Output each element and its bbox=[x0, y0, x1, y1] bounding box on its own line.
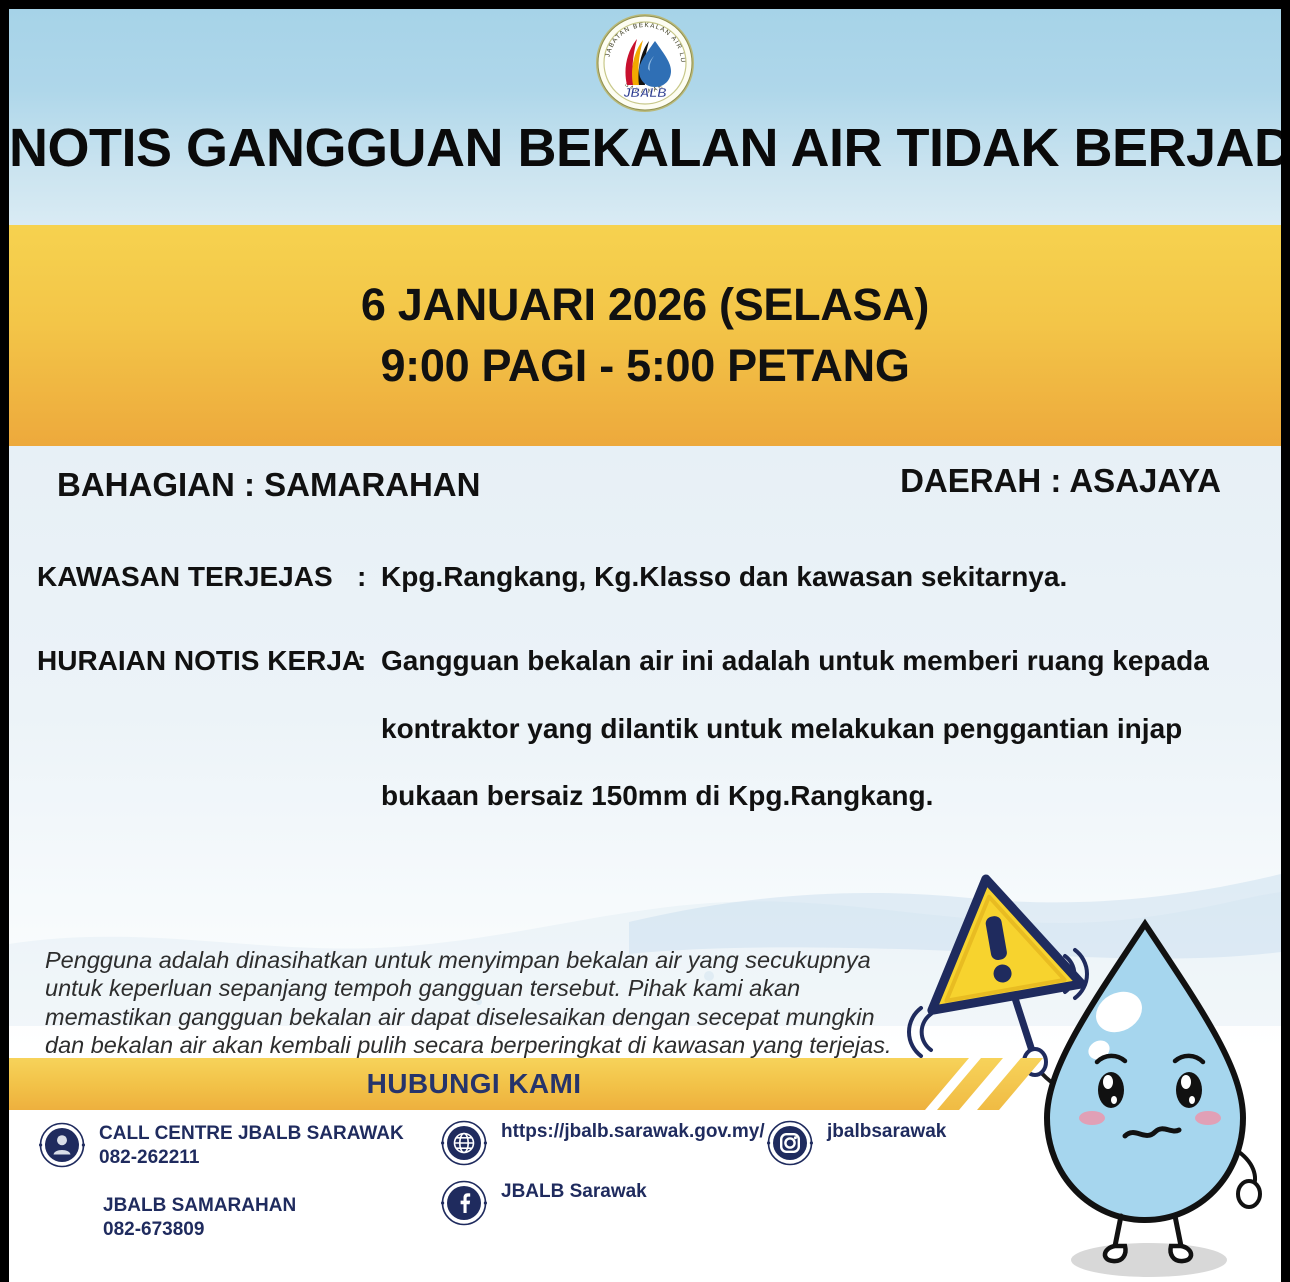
facebook-icon bbox=[441, 1180, 487, 1226]
outage-date: 6 JANUARI 2026 (SELASA) bbox=[361, 275, 929, 336]
instagram-icon bbox=[767, 1120, 813, 1166]
work-description-value: Gangguan bekalan air ini adalah untuk me… bbox=[381, 644, 1209, 813]
work-description-line: kontraktor yang dilantik untuk melakukan… bbox=[381, 712, 1209, 746]
district-label: DAERAH : ASAJAYA bbox=[900, 462, 1221, 500]
work-description-line: bukaan bersaiz 150mm di Kpg.Rangkang. bbox=[381, 779, 1209, 813]
notice-poster: JABATAN BEKALAN AIR LUAR BANDAR SARAWAK … bbox=[0, 0, 1290, 1282]
instagram-handle[interactable]: jbalbsarawak bbox=[827, 1120, 946, 1144]
contact-samarahan-office: JBALB SAMARAHAN 082-673809 bbox=[103, 1194, 296, 1243]
affected-area-label: KAWASAN TERJEJAS bbox=[37, 560, 357, 594]
work-description-line: Gangguan bekalan air ini adalah untuk me… bbox=[381, 644, 1209, 678]
contact-instagram[interactable]: jbalbsarawak bbox=[767, 1120, 946, 1166]
call-centre-number[interactable]: 082-262211 bbox=[99, 1146, 404, 1170]
svg-text:JBALB: JBALB bbox=[623, 85, 666, 100]
contact-website[interactable]: https://jbalb.sarawak.gov.my/ bbox=[441, 1120, 765, 1166]
contact-call-centre: CALL CENTRE JBALB SARAWAK 082-262211 bbox=[39, 1122, 404, 1171]
outage-time: 9:00 PAGI - 5:00 PETANG bbox=[380, 336, 909, 397]
contact-band: HUBUNGI KAMI bbox=[9, 1058, 1281, 1110]
work-description-label: HURAIAN NOTIS KERJA bbox=[37, 644, 357, 678]
affected-area-colon: : bbox=[357, 560, 381, 594]
division-label: BAHAGIAN : SAMARAHAN bbox=[57, 466, 480, 504]
affected-area-field: KAWASAN TERJEJAS : Kpg.Rangkang, Kg.Klas… bbox=[37, 560, 1237, 594]
facebook-handle[interactable]: JBALB Sarawak bbox=[501, 1180, 647, 1204]
samarahan-office-name: JBALB SAMARAHAN bbox=[103, 1195, 296, 1216]
person-phone-icon bbox=[39, 1122, 85, 1168]
work-description-field: HURAIAN NOTIS KERJA : Gangguan bekalan a… bbox=[37, 644, 1257, 813]
samarahan-office-number[interactable]: 082-673809 bbox=[103, 1218, 296, 1242]
contact-band-title: HUBUNGI KAMI bbox=[9, 1058, 939, 1110]
contact-list: CALL CENTRE JBALB SARAWAK 082-262211 JBA… bbox=[9, 1114, 1281, 1274]
globe-icon bbox=[441, 1120, 487, 1166]
page-title: NOTIS GANGGUAN BEKALAN AIR TIDAK BERJADU… bbox=[9, 117, 1281, 179]
poster-body: BAHAGIAN : SAMARAHAN DAERAH : ASAJAYA KA… bbox=[9, 446, 1281, 1282]
poster-header: JABATAN BEKALAN AIR LUAR BANDAR SARAWAK … bbox=[9, 9, 1281, 225]
date-time-banner: 6 JANUARI 2026 (SELASA) 9:00 PAGI - 5:00… bbox=[9, 225, 1281, 446]
work-description-colon: : bbox=[357, 644, 381, 678]
website-url[interactable]: https://jbalb.sarawak.gov.my/ bbox=[501, 1120, 765, 1144]
affected-area-value: Kpg.Rangkang, Kg.Klasso dan kawasan seki… bbox=[381, 560, 1067, 594]
jbalb-seal-logo: JABATAN BEKALAN AIR LUAR BANDAR SARAWAK … bbox=[593, 11, 697, 115]
contact-facebook[interactable]: JBALB Sarawak bbox=[441, 1180, 647, 1226]
call-centre-name: CALL CENTRE JBALB SARAWAK bbox=[99, 1123, 404, 1144]
